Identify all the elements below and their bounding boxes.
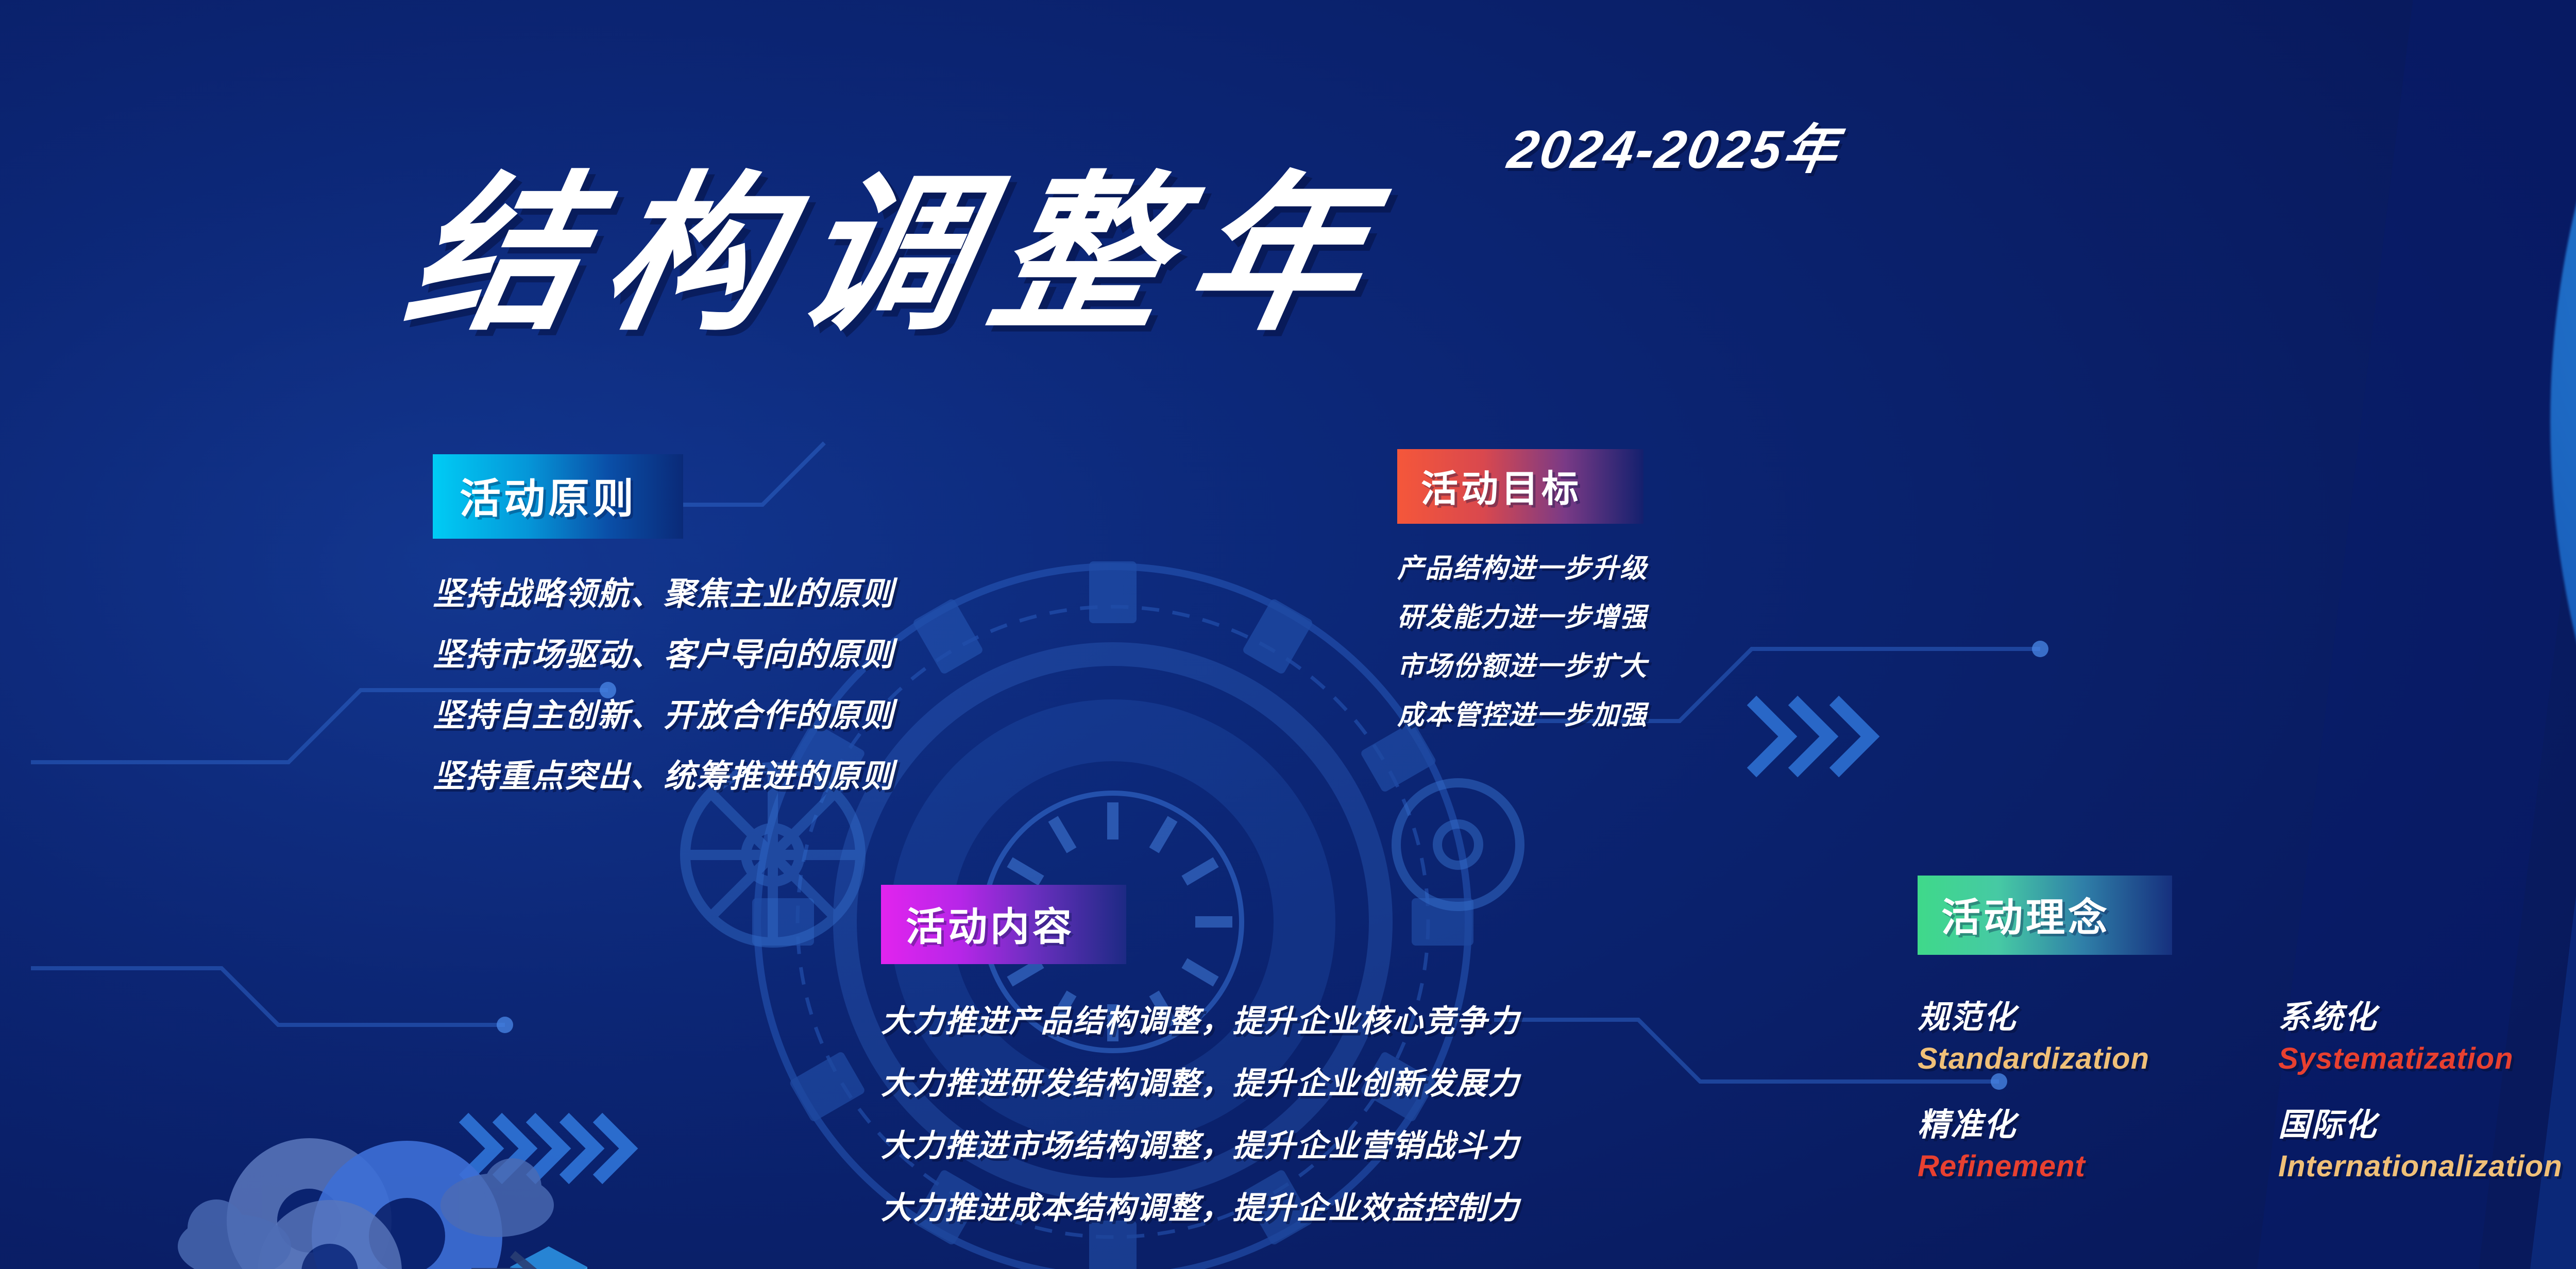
list-item: 坚持市场驱动、客户导向的原则 [433, 628, 894, 675]
goal-badge: 活动目标 [1397, 449, 1643, 524]
concept-item: 规范化 Standardization [1918, 991, 2278, 1076]
concept-label-en: Internationalization [2278, 1149, 2576, 1184]
section-content: 活动内容 大力推进产品结构调整，提升企业核心竞争力 大力推进研发结构调整，提升企… [881, 885, 1520, 1245]
concept-item: 系统化 Systematization [2278, 991, 2576, 1076]
list-item: 大力推进产品结构调整，提升企业核心竞争力 [881, 996, 1520, 1041]
principle-list: 坚持战略领航、聚焦主业的原则 坚持市场驱动、客户导向的原则 坚持自主创新、开放合… [433, 568, 894, 796]
gear-icon-bl-3 [258, 1200, 402, 1269]
cloud-icon-bl-2 [440, 1158, 554, 1237]
cloud-icon-bl-1 [178, 1199, 291, 1269]
list-item: 成本管控进一步加强 [1397, 693, 1648, 732]
concept-badge: 活动理念 [1918, 876, 2172, 955]
principle-badge: 活动原则 [433, 454, 683, 539]
concept-label-en: Systematization [2278, 1041, 2576, 1076]
list-item: 坚持重点突出、统筹推进的原则 [433, 750, 894, 796]
goal-list: 产品结构进一步升级 研发能力进一步增强 市场份额进一步扩大 成本管控进一步加强 [1397, 546, 1648, 732]
page-title: 结构调整年 [396, 170, 1402, 340]
list-item: 大力推进研发结构调整，提升企业创新发展力 [881, 1058, 1520, 1103]
concept-item: 精准化 Refinement [1918, 1099, 2278, 1184]
list-item: 市场份额进一步扩大 [1397, 644, 1648, 683]
arrow-icon-bl [471, 1254, 534, 1269]
concept-label-cn: 国际化 [2278, 1099, 2576, 1145]
cube-icon-bl [510, 1246, 587, 1269]
content-badge: 活动内容 [881, 885, 1126, 964]
section-principle: 活动原则 坚持战略领航、聚焦主业的原则 坚持市场驱动、客户导向的原则 坚持自主创… [433, 454, 894, 811]
concept-label-cn: 系统化 [2278, 991, 2576, 1037]
section-goal: 活动目标 产品结构进一步升级 研发能力进一步增强 市场份额进一步扩大 成本管控进… [1397, 449, 1648, 742]
concept-label-cn: 规范化 [1918, 991, 2278, 1037]
gear-icon-bl-1 [227, 1138, 392, 1269]
concept-label-en: Refinement [1918, 1149, 2278, 1184]
list-item: 坚持战略领航、聚焦主业的原则 [433, 568, 894, 614]
concept-label-en: Standardization [1918, 1041, 2278, 1076]
list-item: 研发能力进一步增强 [1397, 595, 1648, 634]
year-label: 2024-2025年 [1503, 106, 1846, 183]
chevron-arrows-bottomleft [464, 1118, 629, 1179]
list-item: 坚持自主创新、开放合作的原则 [433, 689, 894, 735]
concept-label-cn: 精准化 [1918, 1099, 2278, 1145]
list-item: 产品结构进一步升级 [1397, 546, 1648, 585]
list-item: 大力推进市场结构调整，提升企业营销战斗力 [881, 1121, 1520, 1165]
gear-icon-bl-2 [312, 1141, 502, 1269]
section-concept: 活动理念 规范化 Standardization 系统化 Systematiza… [1918, 876, 2576, 1184]
concept-item: 国际化 Internationalization [2278, 1099, 2576, 1184]
list-item: 大力推进成本结构调整，提升企业效益控制力 [881, 1183, 1520, 1228]
chevron-arrows-right [1752, 700, 1870, 773]
poster-canvas: 2024-2025年 结构调整年 活动原则 坚持战略领航、聚焦主业的原则 坚持市… [0, 0, 2576, 1269]
concept-grid: 规范化 Standardization 系统化 Systematization … [1918, 991, 2576, 1184]
content-list: 大力推进产品结构调整，提升企业核心竞争力 大力推进研发结构调整，提升企业创新发展… [881, 996, 1520, 1228]
